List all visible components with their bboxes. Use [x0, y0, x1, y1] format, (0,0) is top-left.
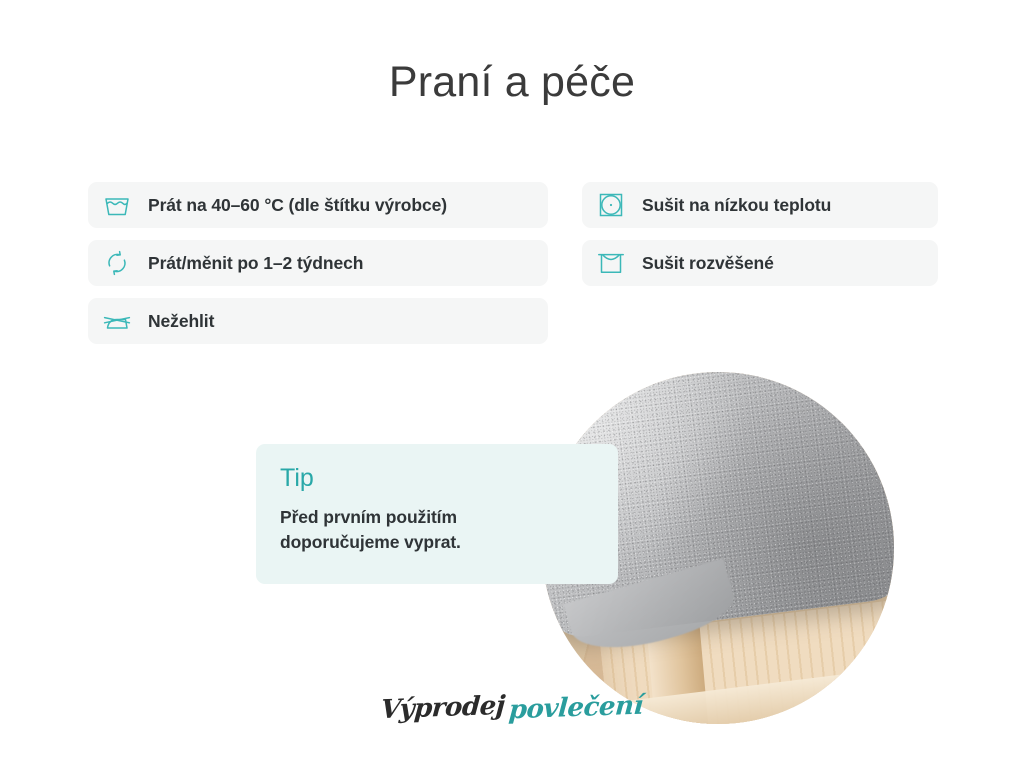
tip-heading: Tip	[280, 466, 594, 491]
brand-logo: Výprodejpovlečení	[0, 693, 1024, 723]
care-item-wash-temperature: Prát na 40–60 °C (dle štítku výrobce)	[88, 182, 548, 228]
brand-logo-secondary: povlečení	[508, 691, 644, 726]
wash-tub-icon	[102, 190, 132, 220]
care-item-tumble-dry-low: Sušit na nízkou teplotu	[582, 182, 938, 228]
care-list-right: Sušit na nízkou teplotu Sušit rozvěšené	[582, 182, 938, 286]
care-list-left: Prát na 40–60 °C (dle štítku výrobce) Pr…	[88, 182, 548, 344]
care-item-label: Prát/měnit po 1–2 týdnech	[148, 253, 363, 274]
care-item-wash-frequency: Prát/měnit po 1–2 týdnech	[88, 240, 548, 286]
care-instructions-page: Praní a péče Prát na 40–60 °C (dle štítk…	[0, 0, 1024, 768]
brand-logo-primary: Výprodej	[380, 691, 506, 725]
tip-card: Tip Před prvním použitím doporučujeme vy…	[256, 444, 618, 584]
tip-text-line-1: Před prvním použitím	[280, 505, 594, 530]
care-item-label: Sušit rozvěšené	[642, 253, 774, 274]
tumble-dry-low-icon	[596, 190, 626, 220]
care-item-label: Prát na 40–60 °C (dle štítku výrobce)	[148, 195, 447, 216]
do-not-iron-icon	[102, 306, 132, 336]
page-title: Praní a péče	[0, 58, 1024, 107]
line-dry-icon	[596, 248, 626, 278]
care-item-label: Sušit na nízkou teplotu	[642, 195, 831, 216]
care-item-label: Nežehlit	[148, 311, 214, 332]
refresh-cycle-icon	[102, 248, 132, 278]
care-item-line-dry: Sušit rozvěšené	[582, 240, 938, 286]
tip-text-line-2: doporučujeme vyprat.	[280, 530, 594, 555]
care-item-do-not-iron: Nežehlit	[88, 298, 548, 344]
